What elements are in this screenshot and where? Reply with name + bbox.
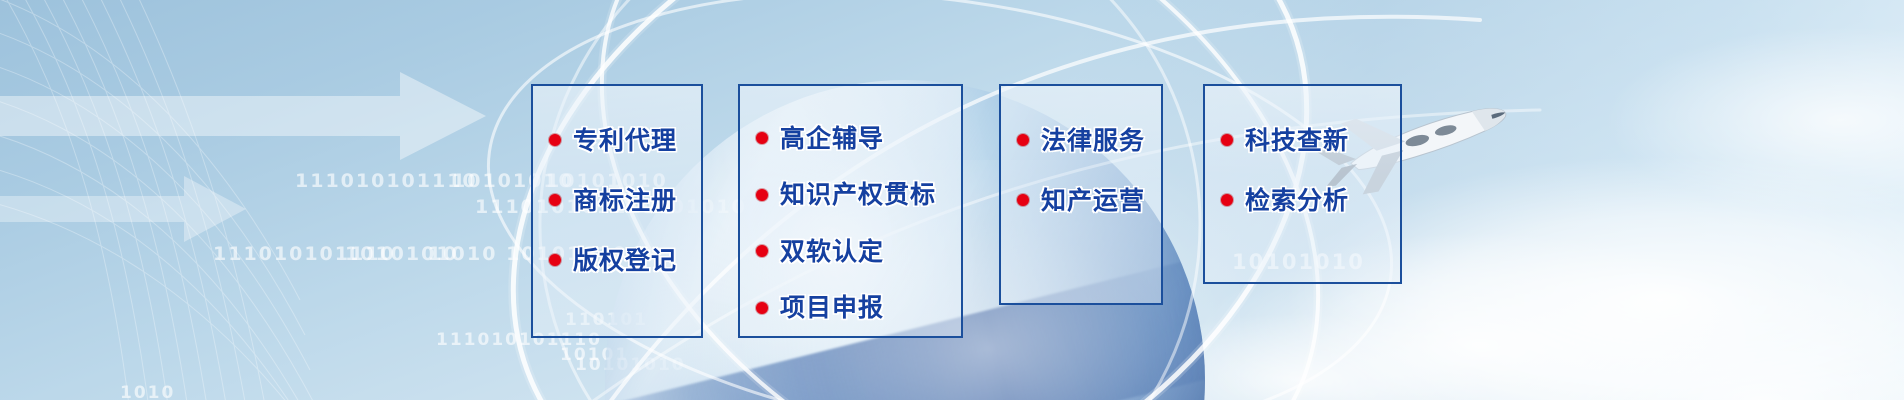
bullet-dot-icon <box>1221 134 1233 146</box>
service-item[interactable]: 知产运营 <box>1001 170 1161 230</box>
right-arrow-large <box>0 68 490 164</box>
service-item-label: 检索分析 <box>1245 188 1349 213</box>
bullet-dot-icon <box>756 132 768 144</box>
binary-string: 111010101110 <box>295 170 478 192</box>
bullet-dot-icon <box>756 245 768 257</box>
bullet-dot-icon <box>549 254 561 266</box>
bullet-dot-icon <box>1017 134 1029 146</box>
bullet-dot-icon <box>1221 194 1233 206</box>
service-item[interactable]: 双软认定 <box>740 223 961 280</box>
bullet-dot-icon <box>549 194 561 206</box>
bullet-dot-icon <box>756 189 768 201</box>
service-item[interactable]: 法律服务 <box>1001 110 1161 170</box>
service-item[interactable]: 版权登记 <box>533 230 701 290</box>
service-item[interactable]: 商标注册 <box>533 170 701 230</box>
service-item-label: 版权登记 <box>573 248 677 273</box>
service-item[interactable]: 专利代理 <box>533 110 701 170</box>
promo-banner: 1110101011101010101010101010111010101110… <box>0 0 1904 400</box>
binary-string: 1010 <box>120 383 175 400</box>
service-item-label: 法律服务 <box>1041 128 1145 153</box>
bullet-dot-icon <box>756 302 768 314</box>
ip-services-card[interactable]: 专利代理商标注册版权登记 <box>531 84 703 338</box>
service-item[interactable]: 检索分析 <box>1205 170 1400 230</box>
service-item-label: 知产运营 <box>1041 188 1145 213</box>
service-item-label: 商标注册 <box>573 188 677 213</box>
bullet-dot-icon <box>1017 194 1029 206</box>
service-item-label: 项目申报 <box>780 295 884 320</box>
binary-string: 10101 <box>560 345 629 365</box>
service-item-label: 科技查新 <box>1245 128 1349 153</box>
service-item-label: 知识产权贯标 <box>780 182 936 207</box>
right-arrow-small <box>0 172 250 246</box>
wireframe-mesh <box>0 0 580 400</box>
research-services-card[interactable]: 科技查新检索分析 <box>1203 84 1402 284</box>
service-item-label: 高企辅导 <box>780 126 884 151</box>
service-item-label: 双软认定 <box>780 239 884 264</box>
service-item-label: 专利代理 <box>573 128 677 153</box>
binary-string: 10101010 <box>345 243 467 265</box>
service-item[interactable]: 高企辅导 <box>740 110 961 167</box>
service-item[interactable]: 项目申报 <box>740 280 961 337</box>
binary-string: 10101010 <box>575 355 686 375</box>
legal-services-card[interactable]: 法律服务知产运营 <box>999 84 1163 305</box>
service-item[interactable]: 科技查新 <box>1205 110 1400 170</box>
enterprise-services-card[interactable]: 高企辅导知识产权贯标双软认定项目申报 <box>738 84 963 338</box>
bullet-dot-icon <box>549 134 561 146</box>
binary-string: 111010101110 <box>213 243 396 265</box>
service-item[interactable]: 知识产权贯标 <box>740 167 961 224</box>
